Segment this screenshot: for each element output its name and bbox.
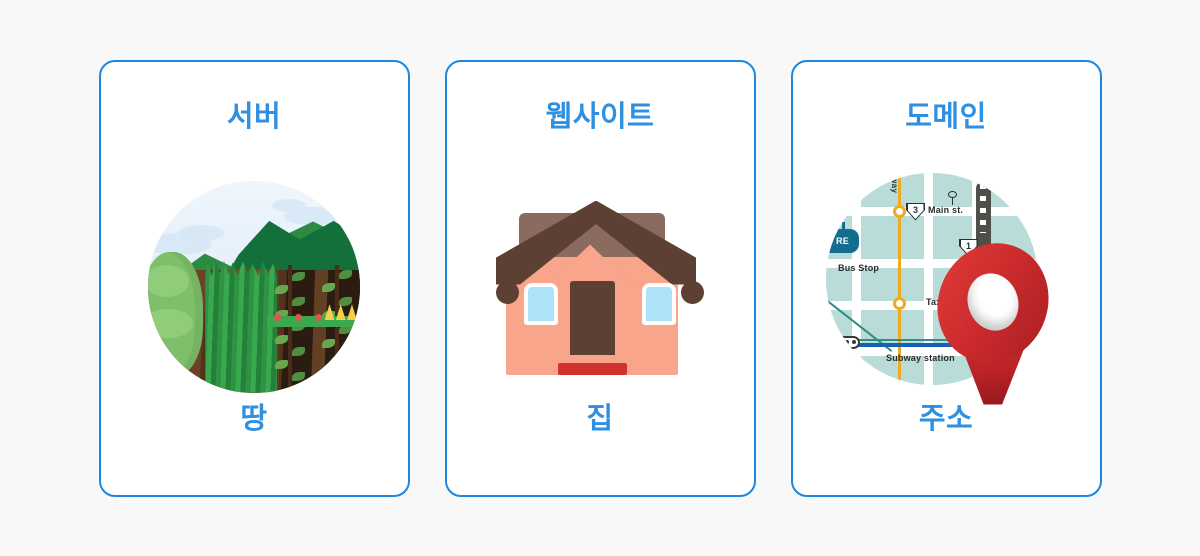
cloud-icon — [178, 225, 224, 241]
land-circle — [148, 181, 360, 393]
map-label-route-vertical: way — [890, 177, 899, 193]
map-wrap: RE 3 1 Main st. Bus Stop — [826, 167, 1066, 407]
house-door — [570, 281, 615, 355]
map-illustration: RE 3 1 Main st. Bus Stop — [793, 172, 1100, 402]
map-label-bus-stop: Bus Stop — [838, 263, 879, 273]
shield-number: 3 — [913, 205, 918, 215]
roof-eave — [681, 281, 704, 304]
house-window — [524, 283, 558, 325]
street-lamp-icon — [948, 191, 957, 205]
centre-sign: RE — [828, 229, 859, 253]
card-caption: 집 — [447, 395, 754, 437]
card-server-land[interactable]: 서버 — [99, 60, 410, 497]
card-title: 웹사이트 — [546, 103, 655, 132]
card-caption: 땅 — [101, 395, 408, 437]
door-mat — [558, 363, 627, 375]
flower-band — [267, 316, 360, 327]
vine-crop — [335, 265, 339, 390]
house-icon — [500, 199, 700, 375]
house-illustration — [447, 172, 754, 402]
route-stop — [893, 297, 906, 310]
vine-crop — [288, 265, 292, 390]
card-title: 도메인 — [905, 103, 987, 132]
card-caption: 주소 — [793, 395, 1100, 437]
roof-eave — [496, 281, 519, 304]
card-website-house[interactable]: 웹사이트 집 — [445, 60, 756, 497]
land-illustration — [101, 172, 408, 402]
route-stop — [893, 205, 906, 218]
bush-crop — [148, 252, 203, 375]
highway-shield-icon: 3 — [906, 203, 925, 221]
map-label-main-street: Main st. — [928, 205, 963, 215]
train-icon — [834, 336, 860, 349]
card-board: 서버 — [0, 0, 1200, 556]
house-window — [642, 283, 676, 325]
card-title: 서버 — [227, 103, 281, 132]
field-rows — [148, 270, 360, 393]
map-pin-icon — [934, 245, 1052, 405]
cloud-icon — [272, 199, 306, 212]
card-domain-address[interactable]: 도메인 — [791, 60, 1102, 497]
